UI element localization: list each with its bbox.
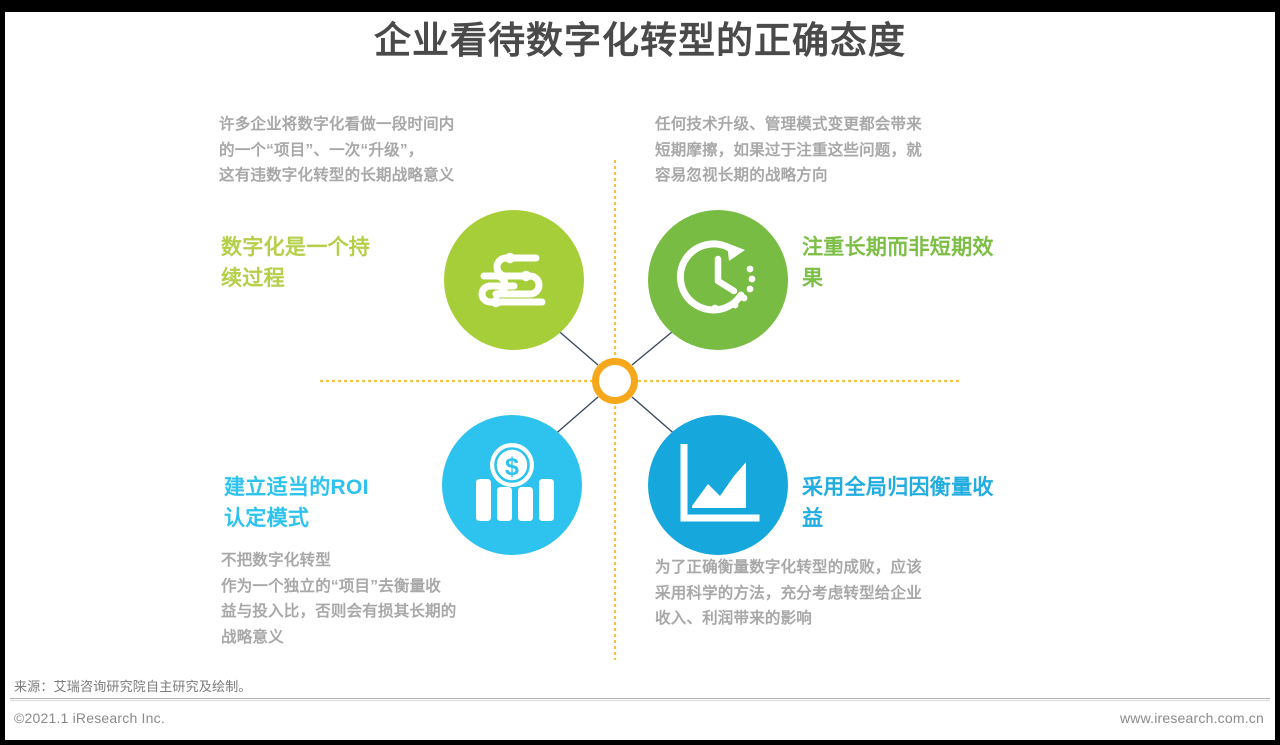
bottom-black-edge — [0, 740, 1280, 745]
label-top-left: 数字化是一个持 续过程 — [221, 232, 431, 294]
quadrant-node-bottom-right[interactable] — [648, 415, 788, 555]
footer-divider-line-secondary — [10, 700, 1270, 701]
connector-line-bottom-left — [552, 397, 598, 437]
description-top-left: 许多企业将数字化看做一段时间内 的一个“项目”、一次“升级”， 这有违数字化转型… — [219, 112, 619, 189]
quadrant-node-bottom-left[interactable]: $ — [442, 415, 582, 555]
center-hub-ring — [592, 358, 638, 404]
connector-line-bottom-right — [632, 397, 678, 437]
description-bottom-right: 为了正确衡量数字化转型的成败，应该 采用科学的方法，充分考虑转型给企业 收入、利… — [655, 555, 1075, 632]
svg-text:$: $ — [505, 453, 519, 481]
label-bottom-left: 建立适当的ROI 认定模式 — [224, 472, 439, 534]
clock-refresh-icon — [675, 237, 761, 323]
dollar-bar-chart-icon: $ — [468, 443, 556, 527]
label-bottom-right: 采用全局归因衡量收 益 — [802, 472, 1072, 534]
winding-path-icon — [474, 249, 554, 311]
quadrant-node-top-left[interactable] — [444, 210, 584, 350]
copyright-text: ©2021.1 iResearch Inc. — [14, 710, 165, 726]
diagram-lines-layer — [0, 0, 1280, 670]
website-url[interactable]: www.iresearch.com.cn — [1120, 710, 1264, 726]
description-bottom-left: 不把数字化转型 作为一个独立的“项目”去衡量收 益与投入比，否则会有损其长期的 … — [221, 548, 621, 650]
footer-divider-line — [10, 698, 1270, 699]
quadrant-diagram: $ 许多企业将数字化看做一段时间内 的一个“项目”、一次“升级”， 这有违数字化… — [0, 0, 1280, 670]
slide-canvas: 企业看待数字化转型的正确态度 — [0, 0, 1280, 745]
area-chart-icon — [676, 444, 760, 526]
description-top-right: 任何技术升级、管理模式变更都会带来 短期摩擦，如果过于注重这些问题，就 容易忽视… — [655, 112, 1075, 189]
connector-line-top-left — [554, 327, 598, 365]
source-note: 来源：艾瑞咨询研究院自主研究及绘制。 — [14, 676, 252, 695]
label-top-right: 注重长期而非短期效 果 — [802, 232, 1072, 294]
quadrant-node-top-right[interactable] — [648, 210, 788, 350]
